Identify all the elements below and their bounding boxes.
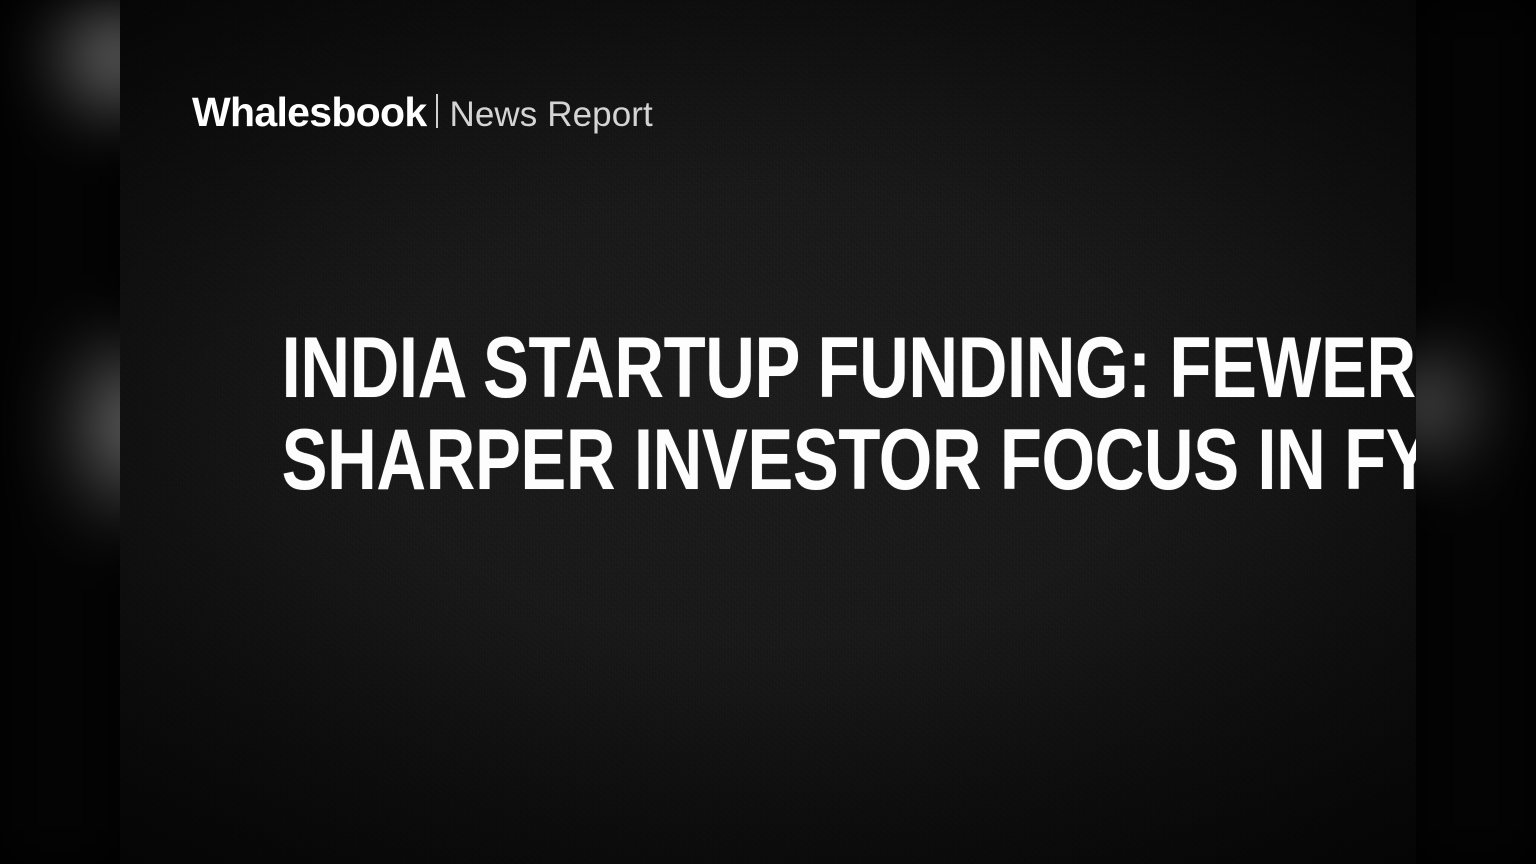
content-panel: Whalesbook News Report INDIA STARTUP FUN… — [120, 0, 1416, 864]
brand-name: Whalesbook — [192, 92, 426, 133]
brand-logo-lockup: Whalesbook News Report — [192, 92, 653, 133]
headline-line-1: INDIA STARTUP FUNDING: FEWER DEALS, — [282, 322, 1255, 414]
headline-line-2: SHARPER INVESTOR FOCUS IN FY26 — [282, 414, 1255, 506]
headline-block: INDIA STARTUP FUNDING: FEWER DEALS, SHAR… — [120, 322, 1416, 506]
logo-divider — [436, 94, 438, 128]
news-report-title-card: Whalesbook News Report INDIA STARTUP FUN… — [0, 0, 1536, 864]
logo-subtitle: News Report — [449, 97, 652, 132]
